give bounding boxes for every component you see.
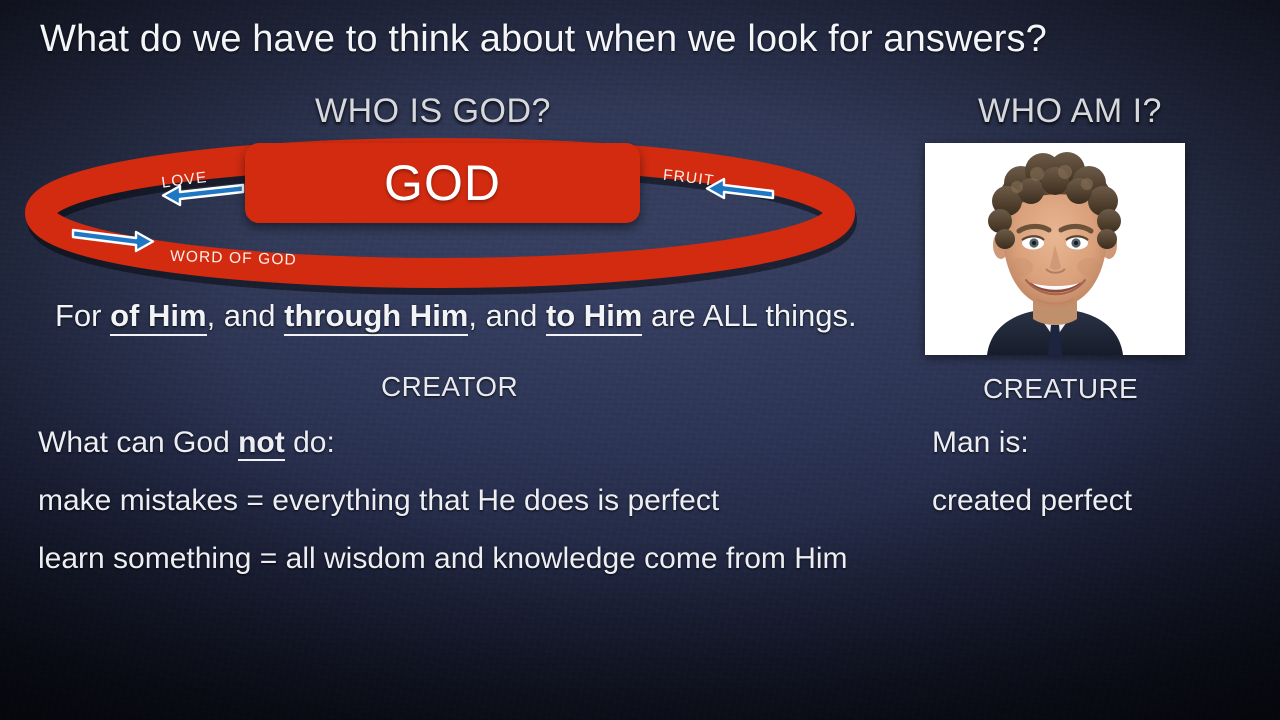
left-point-1: make mistakes = everything that He does …	[38, 484, 719, 518]
god-center-label: GOD	[384, 158, 501, 208]
role-label-creator: CREATOR	[381, 371, 518, 403]
slide-title: What do we have to think about when we l…	[40, 18, 1047, 61]
right-point-1: created perfect	[932, 484, 1132, 518]
left-point-2: learn something = all wisdom and knowled…	[38, 542, 848, 576]
presentation-slide: What do we have to think about when we l…	[0, 0, 1280, 720]
left-question-tail: do:	[285, 426, 335, 459]
heading-who-am-i: WHO AM I?	[978, 92, 1162, 131]
role-label-creature: CREATURE	[983, 373, 1138, 405]
verse-sep-1: , and	[207, 298, 285, 333]
heading-who-is-god: WHO IS GOD?	[315, 92, 551, 131]
verse-part-to-him: to Him	[546, 298, 642, 336]
left-question-emphasis: not	[238, 426, 285, 461]
arrow-love	[163, 185, 243, 205]
verse-line: For of Him, and through Him, and to Him …	[55, 298, 857, 334]
right-lead-line: Man is:	[932, 426, 1029, 460]
verse-prefix: For	[55, 298, 110, 333]
left-question-prefix: What can God	[38, 426, 238, 459]
god-center-box: GOD	[245, 143, 640, 223]
verse-part-through-him: through Him	[284, 298, 468, 336]
verse-sep-2: , and	[468, 298, 546, 333]
verse-part-of-him: of Him	[110, 298, 206, 336]
smiling-man-headshot-image	[925, 143, 1185, 355]
left-question-line: What can God not do:	[38, 426, 335, 460]
man-photo-frame	[925, 143, 1185, 355]
verse-suffix: are ALL things.	[642, 298, 856, 333]
